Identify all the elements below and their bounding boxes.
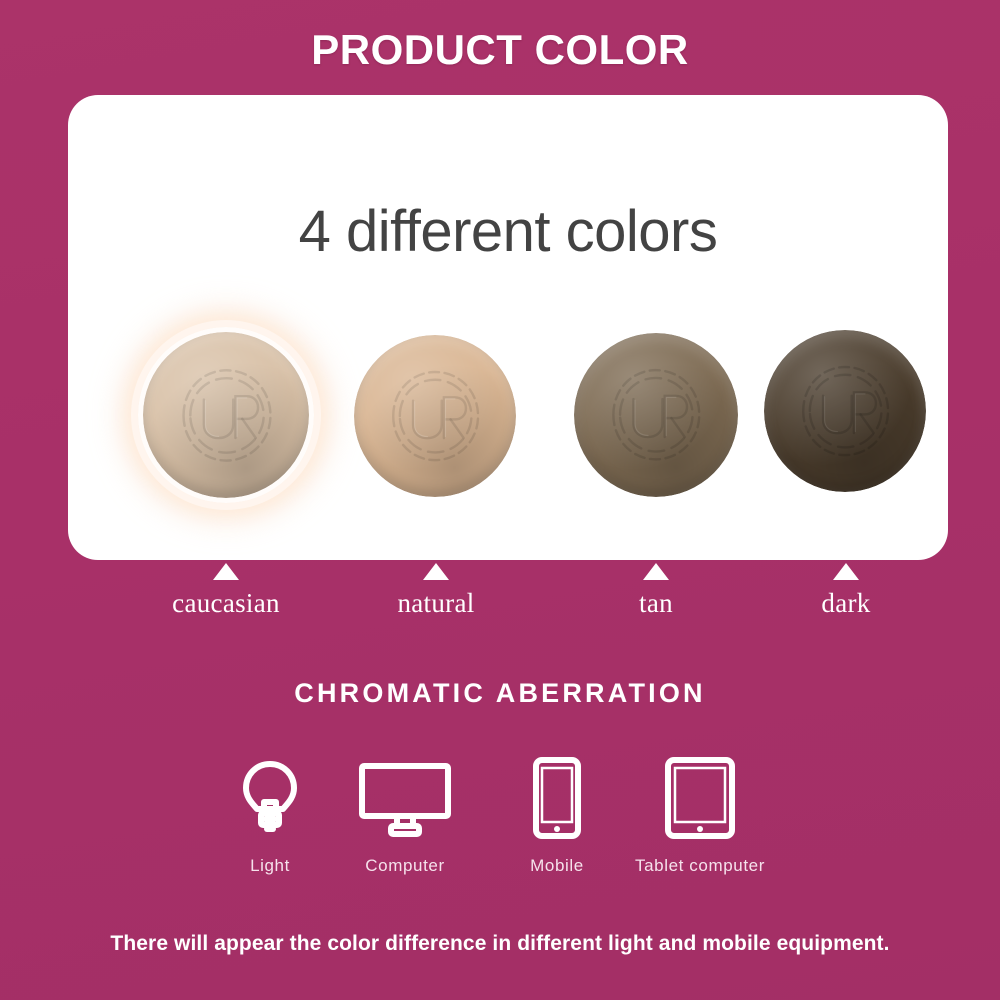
tablet-icon [610, 752, 790, 844]
embossed-logo-icon [170, 359, 283, 472]
embossed-logo-icon [380, 361, 490, 471]
shade-swatch-natural[interactable] [346, 325, 526, 505]
shade-marker-dark: dark [756, 563, 936, 619]
shade-marker-natural: natural [346, 563, 526, 619]
device-item-tablet: Tablet computer [610, 752, 790, 876]
swatch-disc [574, 333, 738, 497]
page-title: PRODUCT COLOR [0, 26, 1000, 74]
shade-disc-row [68, 325, 948, 505]
shade-label: caucasian [136, 588, 316, 619]
device-label: Tablet computer [610, 856, 790, 876]
triangle-up-icon [833, 563, 859, 580]
shade-swatch-caucasian[interactable] [136, 325, 316, 505]
triangle-up-icon [643, 563, 669, 580]
shade-label: dark [756, 588, 936, 619]
shade-label: tan [566, 588, 746, 619]
device-list: Light Computer [0, 752, 1000, 902]
embossed-logo-icon [790, 356, 900, 466]
shade-swatch-dark[interactable] [756, 325, 936, 505]
swatch-disc [143, 332, 309, 498]
shade-marker-caucasian: caucasian [136, 563, 316, 619]
triangle-up-icon [213, 563, 239, 580]
product-color-card: 4 different colors [68, 95, 948, 560]
shade-label: natural [346, 588, 526, 619]
swatch-disc [354, 335, 516, 497]
swatch-disc [764, 330, 926, 492]
product-color-infographic: PRODUCT COLOR 4 different colors [0, 0, 1000, 1000]
embossed-logo-icon [600, 359, 712, 471]
disclaimer-text: There will appear the color difference i… [0, 932, 1000, 956]
triangle-up-icon [423, 563, 449, 580]
shade-swatch-tan[interactable] [566, 325, 746, 505]
shade-marker-tan: tan [566, 563, 746, 619]
card-heading: 4 different colors [68, 198, 948, 265]
chromatic-aberration-heading: CHROMATIC ABERRATION [0, 678, 1000, 709]
